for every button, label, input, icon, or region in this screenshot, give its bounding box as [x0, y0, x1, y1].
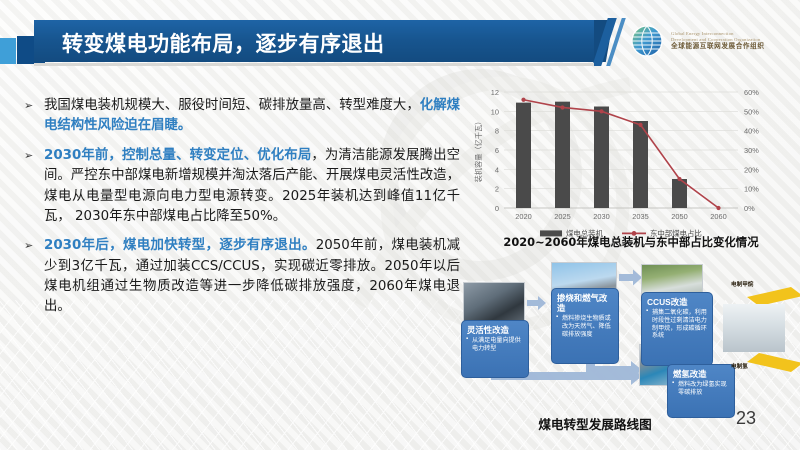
svg-text:2: 2 — [495, 185, 499, 194]
globe-logo-icon — [630, 24, 664, 58]
chart-line-point — [599, 109, 603, 113]
roadmap-diagram: 灵活性改造 从满足电量向提供电力转型 掺烧和燃气改造 燃料掺烧生物质或改为天然气… — [455, 262, 800, 427]
svg-text:10%: 10% — [744, 185, 759, 194]
card-body: 燃料改为绿氢实现零碳排放 — [673, 381, 729, 397]
svg-text:2035: 2035 — [632, 212, 648, 221]
svg-text:20%: 20% — [744, 165, 759, 174]
chart-x-axis-ticks: 202020252030203520502060 — [515, 212, 726, 221]
card-hydrogen-retrofit[interactable]: 燃氢改造 燃料改为绿氢实现零碳排放 — [667, 364, 735, 418]
card-title: CCUS改造 — [647, 297, 707, 307]
header-underline — [34, 63, 594, 66]
bullet-list: ➢我国煤电装机规模大、服役时间短、碳排放量高、转型难度大，化解煤电结构性风险迫在… — [24, 96, 460, 327]
page-title: 转变煤电功能布局，逐步有序退出 — [62, 28, 385, 58]
svg-text:2025: 2025 — [554, 212, 570, 221]
svg-text:2050: 2050 — [671, 212, 687, 221]
photo-wind-farm — [723, 304, 785, 352]
chart-gridlines — [504, 92, 738, 208]
svg-text:12: 12 — [491, 88, 499, 97]
svg-text:10: 10 — [491, 107, 499, 116]
chart-bar — [594, 107, 609, 209]
svg-text:2020: 2020 — [515, 212, 531, 221]
chart-bar — [516, 103, 531, 208]
chart-bar — [555, 102, 570, 208]
bullet-arrow-icon: ➢ — [24, 96, 37, 137]
svg-text:0%: 0% — [744, 204, 755, 213]
bullet-text: 2030年前，控制总量、转变定位、优化布局，为清洁能源发展腾出空间。严控东中部煤… — [44, 146, 460, 228]
card-ccus-retrofit[interactable]: CCUS改造 捕集二氧化碳，利用时段性过剩清洁电力制甲烷，形成碳循环系统 — [641, 292, 713, 366]
chart-y-axis-ticks: 024681012 — [491, 88, 499, 213]
coal-power-chart: 024681012 0%10%20%30%40%50%60% 202020252… — [470, 84, 792, 254]
chart-line-point — [677, 177, 681, 181]
chart-line-point — [638, 123, 642, 127]
arrow-power-to-hydrogen-icon — [747, 353, 800, 372]
card-body: 捕集二氧化碳，利用时段性过剩清洁电力制甲烷，形成碳循环系统 — [647, 309, 707, 340]
svg-text:6: 6 — [495, 146, 499, 155]
card-blending-gas-retrofit[interactable]: 掺烧和燃气改造 燃料掺烧生物质或改为天然气、降低碳排放强度 — [551, 288, 619, 364]
chart-line-point — [521, 98, 525, 102]
bullet-text: 2030年后，煤电加快转型，逐步有序退出。2050年前，煤电装机减少到3亿千瓦，… — [44, 236, 460, 318]
svg-text:30%: 30% — [744, 146, 759, 155]
arrow-blend-to-ccus-icon — [619, 270, 642, 286]
chart-bar — [633, 121, 648, 208]
chart-line-point — [716, 206, 720, 210]
slide-header: 转变煤电功能布局，逐步有序退出 — [0, 10, 800, 68]
bullet-plain-text: 我国煤电装机规模大、服役时间短、碳排放量高、转型难度大， — [44, 98, 420, 113]
organization-logo: Global Energy Interconnection Developmen… — [630, 24, 765, 58]
arrow-flex-to-blend-icon — [527, 296, 546, 310]
chart-secondary-y-axis-ticks: 0%10%20%30%40%50%60% — [744, 88, 759, 213]
svg-text:8: 8 — [495, 127, 499, 136]
chart-svg: 024681012 0%10%20%30%40%50%60% 202020252… — [470, 84, 792, 254]
label-power-to-hydrogen: 电制氢 — [731, 362, 748, 370]
chart-line-series — [521, 98, 720, 210]
card-title: 掺烧和燃气改造 — [557, 293, 613, 313]
chart-caption: 2020~2060年煤电总装机与东中部占比变化情况 — [466, 234, 796, 250]
bullet-item: ➢2030年前，控制总量、转变定位、优化布局，为清洁能源发展腾出空间。严控东中部… — [24, 146, 460, 228]
bullet-item: ➢2030年后，煤电加快转型，逐步有序退出。2050年前，煤电装机减少到3亿千瓦… — [24, 236, 460, 318]
page-number: 23 — [736, 408, 756, 429]
svg-text:2060: 2060 — [710, 212, 726, 221]
svg-text:2030: 2030 — [593, 212, 609, 221]
svg-text:50%: 50% — [744, 107, 759, 116]
card-title: 燃氢改造 — [673, 369, 729, 379]
chart-y-axis-label: 装机容量（亿千瓦） — [474, 118, 483, 183]
card-body: 从满足电量向提供电力转型 — [467, 337, 523, 353]
svg-text:4: 4 — [495, 165, 499, 174]
logo-text-block: Global Energy Interconnection Developmen… — [671, 31, 765, 50]
bullet-item: ➢我国煤电装机规模大、服役时间短、碳排放量高、转型难度大，化解煤电结构性风险迫在… — [24, 96, 460, 137]
bullet-highlight-text: 2030年后，煤电加快转型，逐步有序退出。 — [44, 238, 316, 253]
bullet-arrow-icon: ➢ — [24, 236, 37, 318]
label-power-to-methane: 电制甲烷 — [731, 280, 753, 288]
card-title: 灵活性改造 — [467, 325, 523, 335]
svg-text:0: 0 — [495, 204, 499, 213]
header-accent-square-light — [0, 38, 16, 64]
logo-chinese-name: 全球能源互联网发展合作组织 — [671, 43, 765, 50]
card-flexibility-retrofit[interactable]: 灵活性改造 从满足电量向提供电力转型 — [461, 320, 529, 378]
logo-english-line2: Development and Cooperation Organization — [671, 37, 765, 42]
slide-canvas: 转变煤电功能布局，逐步有序退出 — [0, 0, 800, 450]
card-body: 燃料掺烧生物质或改为天然气、降低碳排放强度 — [557, 315, 613, 338]
bullet-text: 我国煤电装机规模大、服役时间短、碳排放量高、转型难度大，化解煤电结构性风险迫在眉… — [44, 96, 460, 137]
svg-text:40%: 40% — [744, 127, 759, 136]
roadmap-caption: 煤电转型发展路线图 — [470, 414, 720, 433]
svg-text:装机容量（亿千瓦）: 装机容量（亿千瓦） — [474, 118, 483, 183]
svg-text:60%: 60% — [744, 88, 759, 97]
chart-line-point — [560, 105, 564, 109]
bullet-arrow-icon: ➢ — [24, 146, 37, 228]
bullet-highlight-text: 2030年前，控制总量、转变定位、优化布局 — [44, 148, 311, 163]
